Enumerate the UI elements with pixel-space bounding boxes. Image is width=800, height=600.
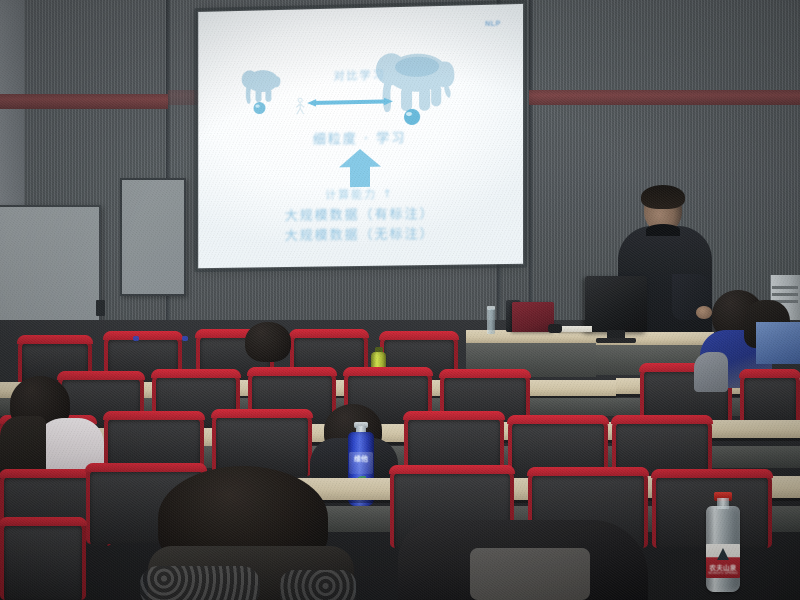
stick-figure-person-icon	[293, 97, 307, 115]
bottle-cap-on-desk	[133, 336, 139, 341]
slide-logo: NLP	[485, 21, 501, 28]
student-right-sleeve	[694, 352, 728, 392]
wall-accent-stripe-right	[529, 90, 800, 105]
water-bottle-sub-text: NONGFU SPRING	[706, 571, 740, 575]
wall-seam-right-2	[529, 0, 533, 330]
foreground-student-fur-trim	[140, 566, 260, 600]
presenter-hair	[641, 185, 685, 209]
paper-sheet	[558, 326, 592, 332]
student-foreground-fur-collar	[150, 466, 346, 600]
ac-vent-1	[772, 286, 798, 289]
ac-vent-2	[772, 293, 798, 296]
mountain-logo-icon	[717, 548, 729, 560]
desktop-monitor[interactable]	[585, 276, 647, 332]
foreground-student-fur-trim-right	[280, 570, 356, 600]
blue-bottle-brand-text: 维他	[349, 454, 373, 464]
wall-accent-stripe-left	[0, 94, 168, 109]
up-arrow-icon	[337, 148, 383, 189]
bottle-cap-on-desk	[182, 336, 188, 341]
projection-screen: NLP	[198, 4, 523, 268]
whiteboard-panel	[120, 178, 186, 296]
lecture-hall-photo: NLP	[0, 0, 800, 600]
whiteboard-clip	[96, 300, 105, 316]
student-mid-center-dark-hair	[245, 322, 291, 362]
presenter-collar	[646, 224, 680, 236]
large-elephant-on-ball-icon	[369, 46, 461, 126]
student-far-right-shoulder	[756, 322, 800, 364]
podium-water-bottle	[487, 309, 495, 334]
small-dark-object	[548, 324, 562, 333]
auditorium-seat[interactable]	[740, 372, 800, 426]
presenter-hand-with-clicker	[696, 306, 712, 319]
auditorium-seat[interactable]	[0, 520, 86, 600]
monitor-base	[596, 338, 636, 343]
bottom-right-paper-or-bag	[470, 548, 590, 600]
nongfu-spring-water-bottle: 农夫山泉 NONGFU SPRING	[706, 492, 740, 594]
double-headed-arrow-icon	[307, 92, 393, 102]
